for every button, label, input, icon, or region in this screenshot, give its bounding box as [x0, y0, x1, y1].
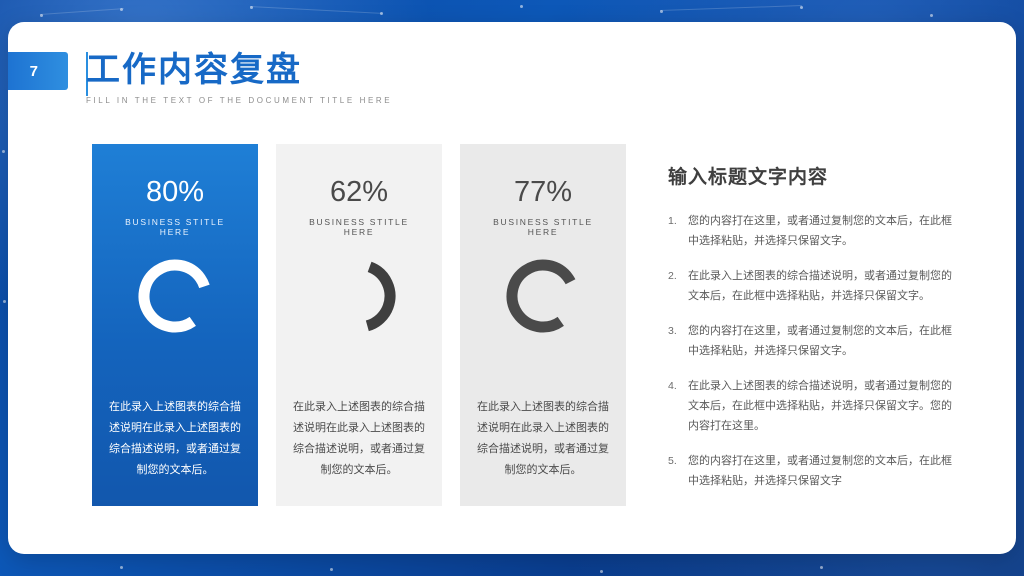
list-item-text: 在此录入上述图表的综合描述说明，或者通过复制您的文本后，在此框中选择粘贴，并选择…: [688, 376, 958, 436]
page-number: 7: [30, 63, 39, 80]
metric-subtitle: BUSINESS STITLE HERE: [476, 217, 610, 237]
list-item: 1. 您的内容打在这里，或者通过复制您的文本后，在此框中选择粘贴，并选择只保留文…: [668, 211, 958, 251]
list-item-number: 5.: [668, 451, 688, 491]
metric-body-text: 在此录入上述图表的综合描述说明在此录入上述图表的综合描述说明，或者通过复制您的文…: [108, 396, 242, 480]
slide-background: 7 工作内容复盘 FILL IN THE TEXT OF THE DOCUMEN…: [0, 0, 1024, 576]
metric-percent: 62%: [292, 176, 426, 208]
list-item: 5. 您的内容打在这里，或者通过复制您的文本后，在此框中选择粘贴，并选择只保留文…: [668, 451, 958, 491]
metric-subtitle: BUSINESS STITLE HERE: [292, 217, 426, 237]
list-item-number: 3.: [668, 321, 688, 361]
list-item-number: 4.: [668, 376, 688, 436]
list-item: 2. 在此录入上述图表的综合描述说明，或者通过复制您的文本后，在此框中选择粘贴，…: [668, 266, 958, 306]
list-item-number: 1.: [668, 211, 688, 251]
page-number-tab: 7: [8, 52, 68, 90]
donut-chart-1: [132, 253, 218, 339]
donut-chart-3: [500, 253, 586, 339]
metric-card-2: 62% BUSINESS STITLE HERE 在此录入上述图表的综合描述说明…: [276, 144, 442, 506]
list-item-text: 您的内容打在这里，或者通过复制您的文本后，在此框中选择粘贴，并选择只保留文字。: [688, 211, 958, 251]
metric-subtitle: BUSINESS STITLE HERE: [108, 217, 242, 237]
right-panel-title: 输入标题文字内容: [668, 162, 958, 189]
metric-card-1: 80% BUSINESS STITLE HERE 在此录入上述图表的综合描述说明…: [92, 144, 258, 506]
list-item: 4. 在此录入上述图表的综合描述说明，或者通过复制您的文本后，在此框中选择粘贴，…: [668, 376, 958, 436]
page-subtitle: FILL IN THE TEXT OF THE DOCUMENT TITLE H…: [86, 96, 392, 105]
page-title: 工作内容复盘: [86, 48, 392, 92]
donut-chart-2: [316, 253, 402, 339]
list-item-text: 您的内容打在这里，或者通过复制您的文本后，在此框中选择粘贴，并选择只保留文字。: [688, 321, 958, 361]
metric-card-3: 77% BUSINESS STITLE HERE 在此录入上述图表的综合描述说明…: [460, 144, 626, 506]
metric-percent: 80%: [108, 176, 242, 208]
list-item-text: 在此录入上述图表的综合描述说明，或者通过复制您的文本后，在此框中选择粘贴，并选择…: [688, 266, 958, 306]
right-panel: 输入标题文字内容 1. 您的内容打在这里，或者通过复制您的文本后，在此框中选择粘…: [668, 162, 958, 506]
metric-body-text: 在此录入上述图表的综合描述说明在此录入上述图表的综合描述说明，或者通过复制您的文…: [292, 396, 426, 480]
list-item-text: 您的内容打在这里，或者通过复制您的文本后，在此框中选择粘贴，并选择只保留文字: [688, 451, 958, 491]
metric-body-text: 在此录入上述图表的综合描述说明在此录入上述图表的综合描述说明，或者通过复制您的文…: [476, 396, 610, 480]
metric-percent: 77%: [476, 176, 610, 208]
list-item-number: 2.: [668, 266, 688, 306]
list-item: 3. 您的内容打在这里，或者通过复制您的文本后，在此框中选择粘贴，并选择只保留文…: [668, 321, 958, 361]
title-block: 工作内容复盘 FILL IN THE TEXT OF THE DOCUMENT …: [86, 48, 392, 105]
slide-card: 7 工作内容复盘 FILL IN THE TEXT OF THE DOCUMEN…: [8, 22, 1016, 554]
